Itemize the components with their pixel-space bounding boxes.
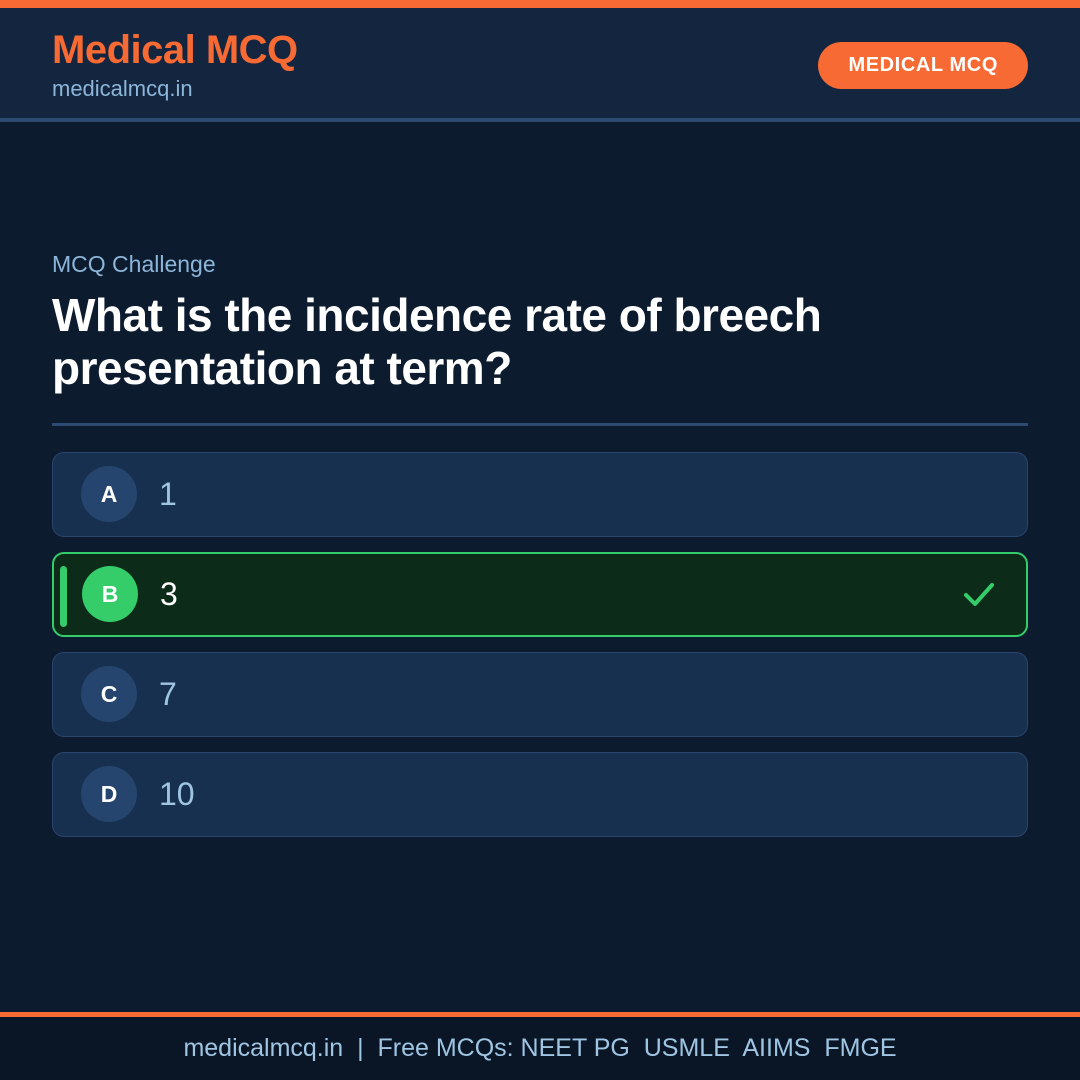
option-letter-badge: A (81, 466, 137, 522)
option-d[interactable]: D 10 (52, 752, 1028, 837)
selected-accent-bar (60, 566, 67, 627)
mcq-card: Medical MCQ medicalmcq.in MEDICAL MCQ MC… (0, 0, 1080, 1080)
page-footer: medicalmcq.in | Free MCQs: NEET PG USMLE… (0, 1012, 1080, 1080)
main-content: MCQ Challenge What is the incidence rate… (0, 122, 1080, 1012)
question-divider (52, 423, 1028, 426)
option-letter-badge: D (81, 766, 137, 822)
brand-block: Medical MCQ medicalmcq.in (52, 29, 298, 101)
brand-title: Medical MCQ (52, 29, 298, 71)
top-accent-bar (0, 0, 1080, 8)
option-letter-badge: C (81, 666, 137, 722)
footer-text: medicalmcq.in | Free MCQs: NEET PG USMLE… (183, 1034, 896, 1063)
page-header: Medical MCQ medicalmcq.in MEDICAL MCQ (0, 8, 1080, 122)
option-a[interactable]: A 1 (52, 452, 1028, 537)
option-letter-badge: B (82, 566, 138, 622)
options-list: A 1 B 3 (52, 452, 1028, 837)
option-label: 3 (160, 578, 178, 610)
option-b[interactable]: B 3 (52, 552, 1028, 637)
question-text: What is the incidence rate of breech pre… (52, 289, 932, 395)
check-icon (960, 575, 998, 613)
option-label: 1 (159, 478, 177, 510)
option-label: 7 (159, 678, 177, 710)
kicker-label: MCQ Challenge (52, 251, 1028, 279)
brand-subtitle: medicalmcq.in (52, 77, 298, 101)
option-c[interactable]: C 7 (52, 652, 1028, 737)
header-badge: MEDICAL MCQ (818, 42, 1028, 89)
option-label: 10 (159, 778, 195, 810)
question-block: MCQ Challenge What is the incidence rate… (52, 251, 1028, 836)
